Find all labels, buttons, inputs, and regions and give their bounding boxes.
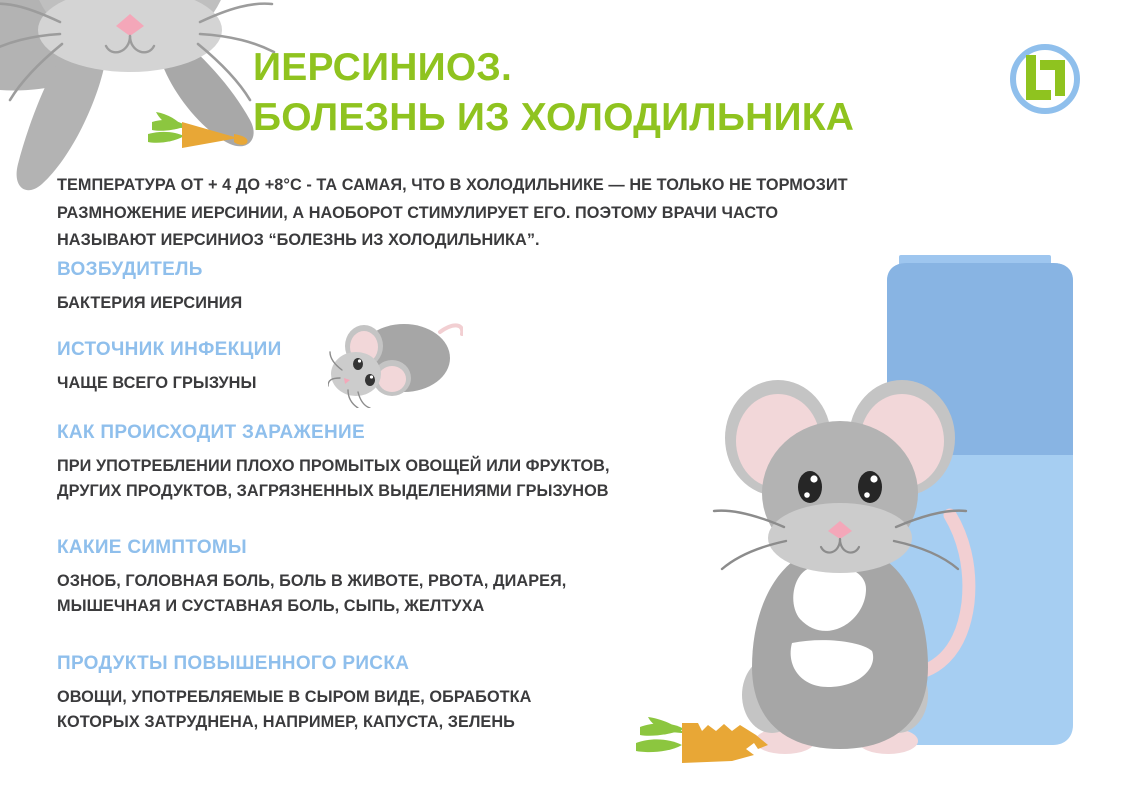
page-title: ИЕРСИНИОЗ. БОЛЕЗНЬ ИЗ ХОЛОДИЛЬНИКА	[253, 43, 953, 143]
section-heading: ПРОДУКТЫ ПОВЫШЕННОГО РИСКА	[57, 652, 777, 676]
section-body: ЧАЩЕ ВСЕГО ГРЫЗУНЫ	[57, 371, 777, 396]
section-produkty-povyshennogo-riska: ПРОДУКТЫ ПОВЫШЕННОГО РИСКА ОВОЩИ, УПОТРЕ…	[57, 652, 777, 735]
section-heading: ИСТОЧНИК ИНФЕКЦИИ	[57, 338, 777, 362]
infographic-poster: ИЕРСИНИОЗ. БОЛЕЗНЬ ИЗ ХОЛОДИЛЬНИКА ТЕМПЕ…	[0, 0, 1122, 793]
section-body: ОЗНОБ, ГОЛОВНАЯ БОЛЬ, БОЛЬ В ЖИВОТЕ, РВО…	[57, 569, 777, 619]
organization-logo	[1004, 38, 1086, 120]
intro-paragraph: ТЕМПЕРАТУРА ОТ + 4 ДО +8°C - ТА САМАЯ, Ч…	[57, 172, 957, 255]
section-vozbuditel: ВОЗБУДИТЕЛЬ БАКТЕРИЯ ИЕРСИНИЯ	[57, 258, 777, 316]
section-kak-proishodit-zarazhenie: КАК ПРОИСХОДИТ ЗАРАЖЕНИЕ ПРИ УПОТРЕБЛЕНИ…	[57, 421, 777, 504]
section-body: ОВОЩИ, УПОТРЕБЛЯЕМЫЕ В СЫРОМ ВИДЕ, ОБРАБ…	[57, 685, 777, 735]
section-heading: ВОЗБУДИТЕЛЬ	[57, 258, 777, 282]
refrigerator-illustration	[885, 255, 1085, 755]
section-body: ПРИ УПОТРЕБЛЕНИИ ПЛОХО ПРОМЫТЫХ ОВОЩЕЙ И…	[57, 454, 777, 504]
section-heading: КАКИЕ СИМПТОМЫ	[57, 536, 777, 560]
section-kakie-simptomy: КАКИЕ СИМПТОМЫ ОЗНОБ, ГОЛОВНАЯ БОЛЬ, БОЛ…	[57, 536, 777, 619]
section-heading: КАК ПРОИСХОДИТ ЗАРАЖЕНИЕ	[57, 421, 777, 445]
section-istochnik-infekcii: ИСТОЧНИК ИНФЕКЦИИ ЧАЩЕ ВСЕГО ГРЫЗУНЫ	[57, 338, 777, 396]
carrot-illustration-top	[146, 104, 256, 166]
section-body: БАКТЕРИЯ ИЕРСИНИЯ	[57, 291, 777, 316]
